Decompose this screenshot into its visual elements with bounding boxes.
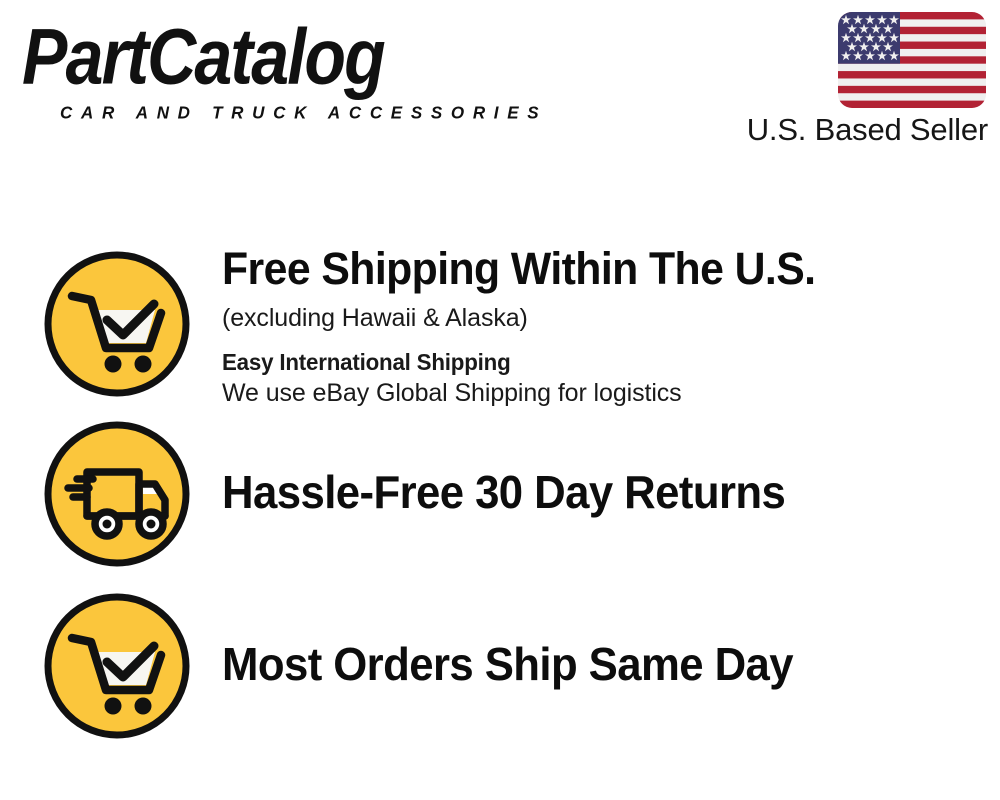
- feature-text-block: Hassle-Free 30 Day Returns: [222, 466, 982, 518]
- feature-headline: Free Shipping Within The U.S.: [222, 244, 944, 294]
- shopping-cart-check-icon: [43, 592, 191, 740]
- brand-tagline: CAR AND TRUCK ACCESSORIES: [60, 103, 547, 124]
- shopping-cart-check-icon: [43, 250, 191, 398]
- promo-banner: PartCatalog CAR AND TRUCK ACCESSORIES: [0, 0, 1000, 800]
- feature-subnote: (excluding Hawaii & Alaska): [222, 302, 982, 334]
- feature-text-block: Most Orders Ship Same Day: [222, 638, 982, 690]
- brand-logo: PartCatalog CAR AND TRUCK ACCESSORIES: [22, 18, 492, 118]
- feature-subdetail: We use eBay Global Shipping for logistic…: [222, 377, 982, 409]
- feature-headline: Hassle-Free 30 Day Returns: [222, 466, 944, 518]
- us-based-seller-label: U.S. Based Seller: [722, 111, 988, 149]
- brand-wordmark: PartCatalog: [22, 18, 384, 96]
- delivery-truck-icon: [43, 420, 191, 568]
- feature-headline: Most Orders Ship Same Day: [222, 638, 944, 690]
- feature-text-block: Free Shipping Within The U.S. (excluding…: [222, 244, 982, 409]
- feature-subheading: Easy International Shipping: [222, 347, 959, 377]
- us-flag-icon: [838, 12, 986, 108]
